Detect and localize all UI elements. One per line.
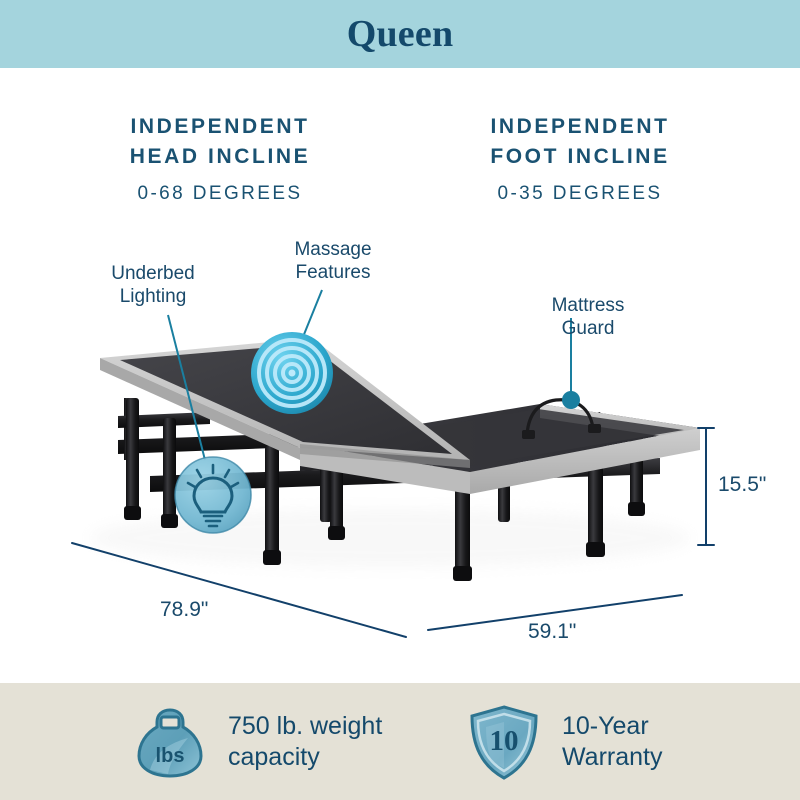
dot-marker-icon <box>562 391 580 409</box>
massage-ripple-icon <box>251 332 333 414</box>
page-title: Queen <box>0 0 800 68</box>
product-illustration <box>0 68 800 683</box>
dimension-height-label: 15.5" <box>718 473 766 497</box>
weight-lbs-icon: lbs <box>128 700 212 784</box>
guard-bracket-left <box>522 430 535 439</box>
feature-weight-text: 750 lb. weight capacity <box>228 711 382 773</box>
feature-weight-capacity: lbs 750 lb. weight capacity <box>128 700 382 784</box>
infographic-page: Queen INDEPENDENT HEAD INCLINE 0-68 DEGR… <box>0 0 800 800</box>
guard-bracket-right <box>588 424 601 433</box>
dimension-width-label: 59.1" <box>528 620 576 644</box>
callout-label-underbed-lighting: Underbed Lighting <box>78 262 228 308</box>
callout-label-mattress-guard: Mattress Guard <box>508 294 668 340</box>
callout-label-massage-features: Massage Features <box>258 238 408 284</box>
feature-warranty: 10 10-Year Warranty <box>462 700 662 784</box>
dimension-length-label: 78.9" <box>160 598 208 622</box>
bed-svg <box>0 68 800 683</box>
footer-band <box>0 683 800 800</box>
shield-icon-label: 10 <box>490 725 519 757</box>
shield-icon: 10 <box>462 700 546 784</box>
lightbulb-icon <box>175 457 251 533</box>
feature-warranty-text: 10-Year Warranty <box>562 711 662 773</box>
weight-icon-label: lbs <box>156 745 185 767</box>
